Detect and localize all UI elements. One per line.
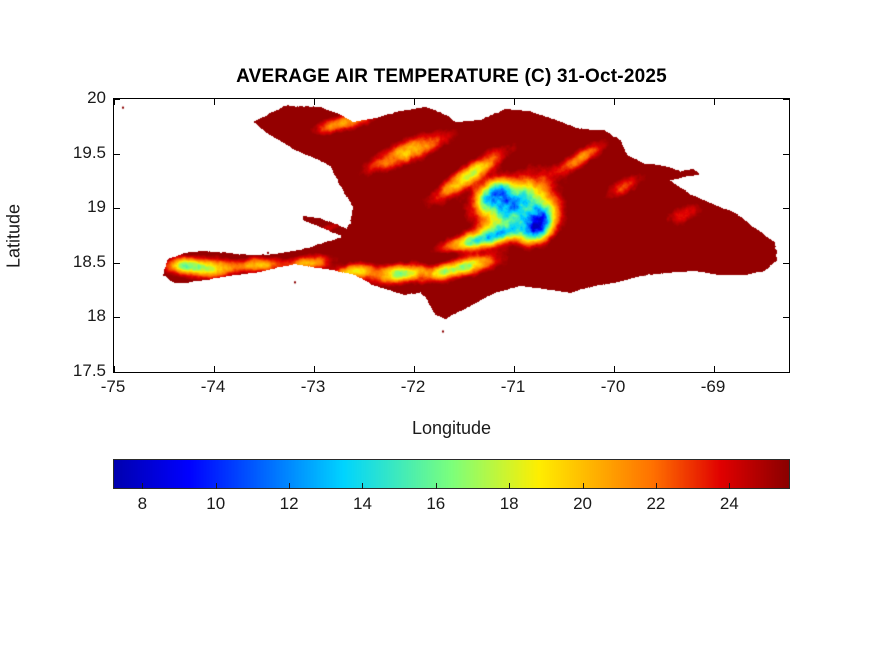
- figure-container: AVERAGE AIR TEMPERATURE (C) 31-Oct-2025 …: [0, 0, 875, 656]
- colorbar-tick: [289, 483, 290, 489]
- colorbar-tick: [436, 483, 437, 489]
- x-axis-tick: [314, 366, 315, 372]
- x-axis-tick: [614, 366, 615, 372]
- x-tick-label: -73: [301, 377, 326, 397]
- colorbar-tick: [583, 483, 584, 489]
- y-axis-tick: [114, 99, 120, 100]
- colorbar-tick: [216, 483, 217, 489]
- x-tick-label: -72: [401, 377, 426, 397]
- x-tick-label: -71: [501, 377, 526, 397]
- y-axis-tick: [783, 372, 789, 373]
- y-axis-tick: [783, 208, 789, 209]
- x-axis-label: Longitude: [113, 418, 790, 439]
- y-tick-label: 18.5: [73, 252, 106, 272]
- y-axis-tick: [783, 263, 789, 264]
- temperature-heatmap: [114, 99, 789, 372]
- x-tick-label: -75: [101, 377, 126, 397]
- x-axis-tick: [514, 99, 515, 105]
- map-axes: [113, 98, 790, 373]
- page-title: AVERAGE AIR TEMPERATURE (C) 31-Oct-2025: [113, 66, 790, 88]
- x-axis-tick: [514, 366, 515, 372]
- x-axis-tick: [414, 366, 415, 372]
- y-axis-tick: [783, 154, 789, 155]
- y-axis-tick: [114, 372, 120, 373]
- colorbar-tick-label: 16: [426, 494, 445, 514]
- colorbar-tick-label: 10: [206, 494, 225, 514]
- x-axis-tick: [614, 99, 615, 105]
- colorbar-tick-label: 24: [720, 494, 739, 514]
- x-tick-label: -70: [601, 377, 626, 397]
- y-tick-label: 19.5: [73, 143, 106, 163]
- y-tick-label-group: 17.51818.51919.520: [0, 0, 106, 656]
- colorbar-tick-label: 14: [353, 494, 372, 514]
- y-axis-tick: [783, 317, 789, 318]
- y-tick-label: 19: [87, 197, 106, 217]
- y-axis-tick: [114, 208, 120, 209]
- colorbar-tick: [362, 483, 363, 489]
- y-axis-tick: [783, 99, 789, 100]
- colorbar-tick-label: 20: [573, 494, 592, 514]
- colorbar-tick-label: 12: [280, 494, 299, 514]
- y-axis-tick: [114, 317, 120, 318]
- colorbar-tick: [729, 483, 730, 489]
- colorbar-tick: [656, 483, 657, 489]
- y-axis-tick: [114, 154, 120, 155]
- colorbar: [113, 459, 790, 489]
- colorbar-tick: [509, 483, 510, 489]
- colorbar-tick-label: 18: [500, 494, 519, 514]
- y-axis-tick: [114, 263, 120, 264]
- y-tick-label: 20: [87, 88, 106, 108]
- x-axis-tick: [714, 99, 715, 105]
- x-tick-label: -69: [701, 377, 726, 397]
- colorbar-gradient: [113, 459, 790, 489]
- colorbar-tick: [142, 483, 143, 489]
- x-axis-tick: [414, 99, 415, 105]
- x-axis-tick: [214, 366, 215, 372]
- y-tick-label: 18: [87, 306, 106, 326]
- x-axis-tick: [214, 99, 215, 105]
- x-axis-tick: [314, 99, 315, 105]
- colorbar-tick-label: 22: [646, 494, 665, 514]
- colorbar-tick-label: 8: [138, 494, 147, 514]
- x-tick-label: -74: [201, 377, 226, 397]
- x-axis-tick: [714, 366, 715, 372]
- y-axis-label: Latitude: [4, 204, 25, 268]
